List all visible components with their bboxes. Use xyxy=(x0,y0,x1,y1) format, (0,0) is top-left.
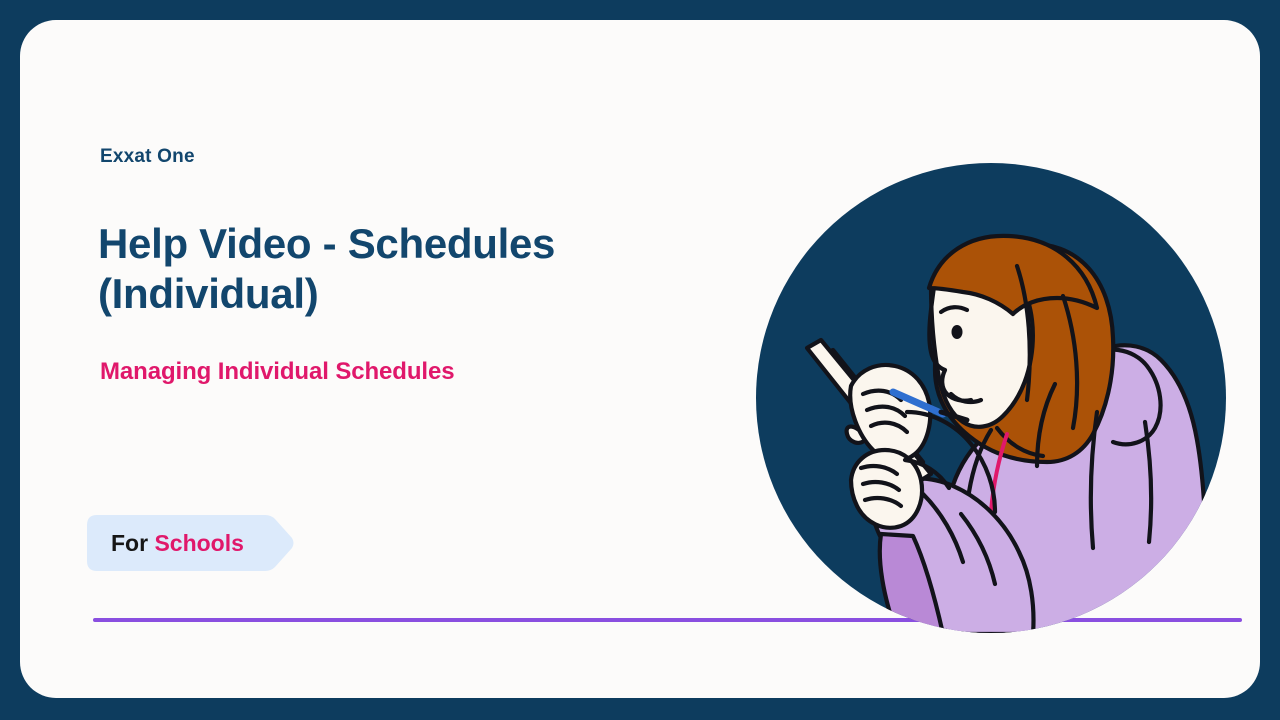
audience-ribbon-text: For Schools xyxy=(87,515,244,571)
page-title: Help Video - Schedules (Individual) xyxy=(98,219,718,318)
slide-root: Exxat One Help Video - Schedules (Indivi… xyxy=(0,0,1280,720)
woman-using-tablet-illustration-icon xyxy=(755,162,1227,634)
product-name-eyebrow: Exxat One xyxy=(100,146,195,168)
page-subtitle: Managing Individual Schedules xyxy=(100,358,455,386)
audience-ribbon-prefix: For xyxy=(111,530,148,556)
eye xyxy=(952,325,963,339)
hero-illustration xyxy=(755,162,1227,634)
slide-card: Exxat One Help Video - Schedules (Indivi… xyxy=(20,20,1260,698)
audience-ribbon: For Schools xyxy=(87,515,244,571)
audience-ribbon-audience: Schools xyxy=(154,530,243,556)
